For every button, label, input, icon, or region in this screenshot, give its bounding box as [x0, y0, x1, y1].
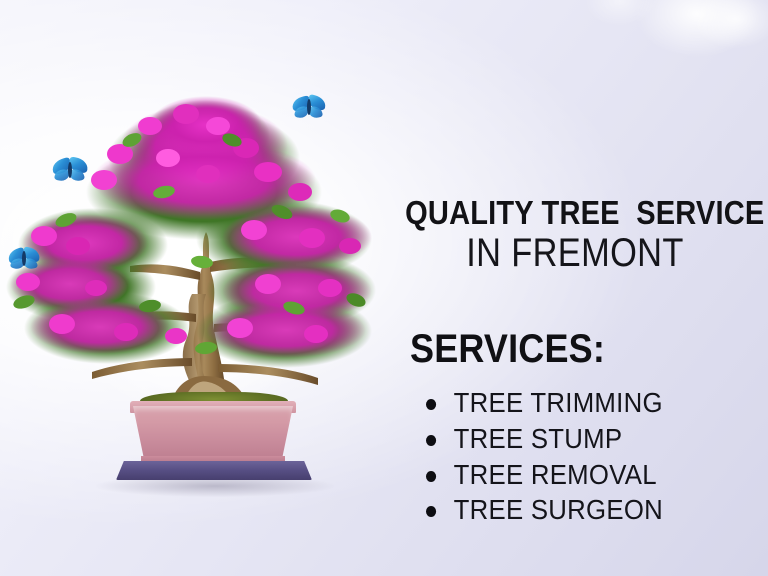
- butterfly-icon: [292, 96, 326, 121]
- smoke-wisp-icon: [676, 0, 768, 60]
- headline-line-2: IN FREMONT: [409, 233, 741, 273]
- bullet-icon: [426, 506, 436, 517]
- list-item: TREE STUMP: [426, 423, 741, 456]
- bullet-icon: [426, 471, 436, 482]
- service-label: TREE TRIMMING: [454, 387, 663, 418]
- service-label: TREE STUMP: [454, 423, 623, 454]
- bonsai-pot: [133, 406, 293, 460]
- list-item: TREE REMOVAL: [426, 459, 741, 492]
- bullet-icon: [426, 399, 436, 410]
- list-item: TREE SURGEON: [426, 494, 741, 527]
- services-heading: SERVICES:: [410, 329, 732, 369]
- headline-line-1: QUALITY TREE SERVICE: [405, 196, 745, 229]
- smoke-wisp-icon: [612, 0, 768, 74]
- smoke-wisp-icon: [572, 0, 668, 36]
- butterfly-icon: [52, 158, 88, 184]
- poster-canvas: QUALITY TREE SERVICE IN FREMONT SERVICES…: [0, 0, 768, 576]
- pot-display-tray: [116, 461, 312, 480]
- bonsai-tree-illustration: [0, 96, 390, 496]
- service-label: TREE SURGEON: [454, 494, 663, 525]
- butterfly-icon: [8, 248, 40, 272]
- poster-copy: QUALITY TREE SERVICE IN FREMONT SERVICES…: [382, 196, 768, 530]
- list-item: TREE TRIMMING: [426, 387, 741, 420]
- bullet-icon: [426, 435, 436, 446]
- service-label: TREE REMOVAL: [454, 459, 657, 490]
- services-list: TREE TRIMMING TREE STUMP TREE REMOVAL TR…: [382, 387, 768, 527]
